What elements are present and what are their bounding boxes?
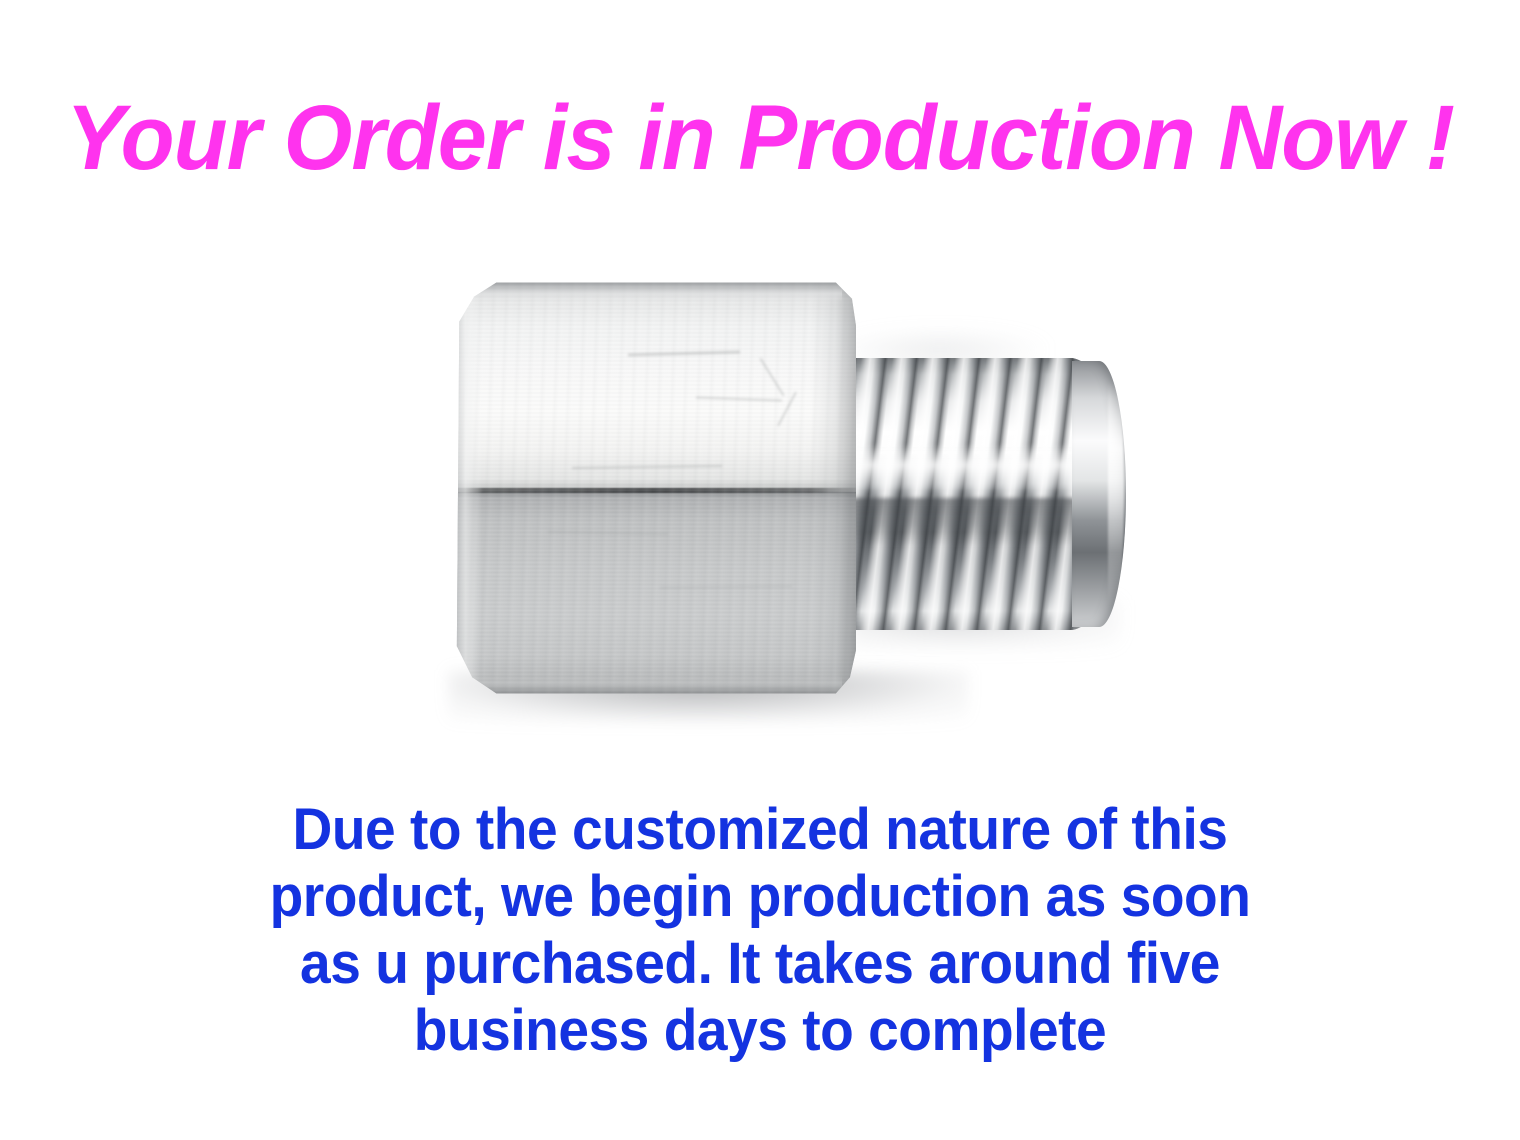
body-copy-line: business days to complete [38, 997, 1482, 1064]
body-copy-line: product, we begin production as soon [38, 863, 1482, 930]
page-title: Your Order is in Production Now ! [30, 88, 1489, 188]
male-thread-section [840, 355, 1130, 635]
body-copy: Due to the customized nature of this pro… [38, 796, 1482, 1064]
hex-body [452, 280, 856, 696]
hex-top-chamfer [466, 280, 842, 302]
thread-end-cap-highlight [1108, 381, 1124, 607]
body-copy-line: Due to the customized nature of this [38, 796, 1482, 863]
hex-right-shoulder [810, 280, 856, 696]
hex-tool-marks [452, 280, 856, 696]
product-image [400, 250, 1200, 750]
hex-left-chamfer [452, 280, 482, 696]
hex-bottom-chamfer [466, 676, 842, 696]
body-copy-line: as u purchased. It takes around five [38, 930, 1482, 997]
promo-banner: Your Order is in Production Now ! [0, 0, 1520, 1140]
